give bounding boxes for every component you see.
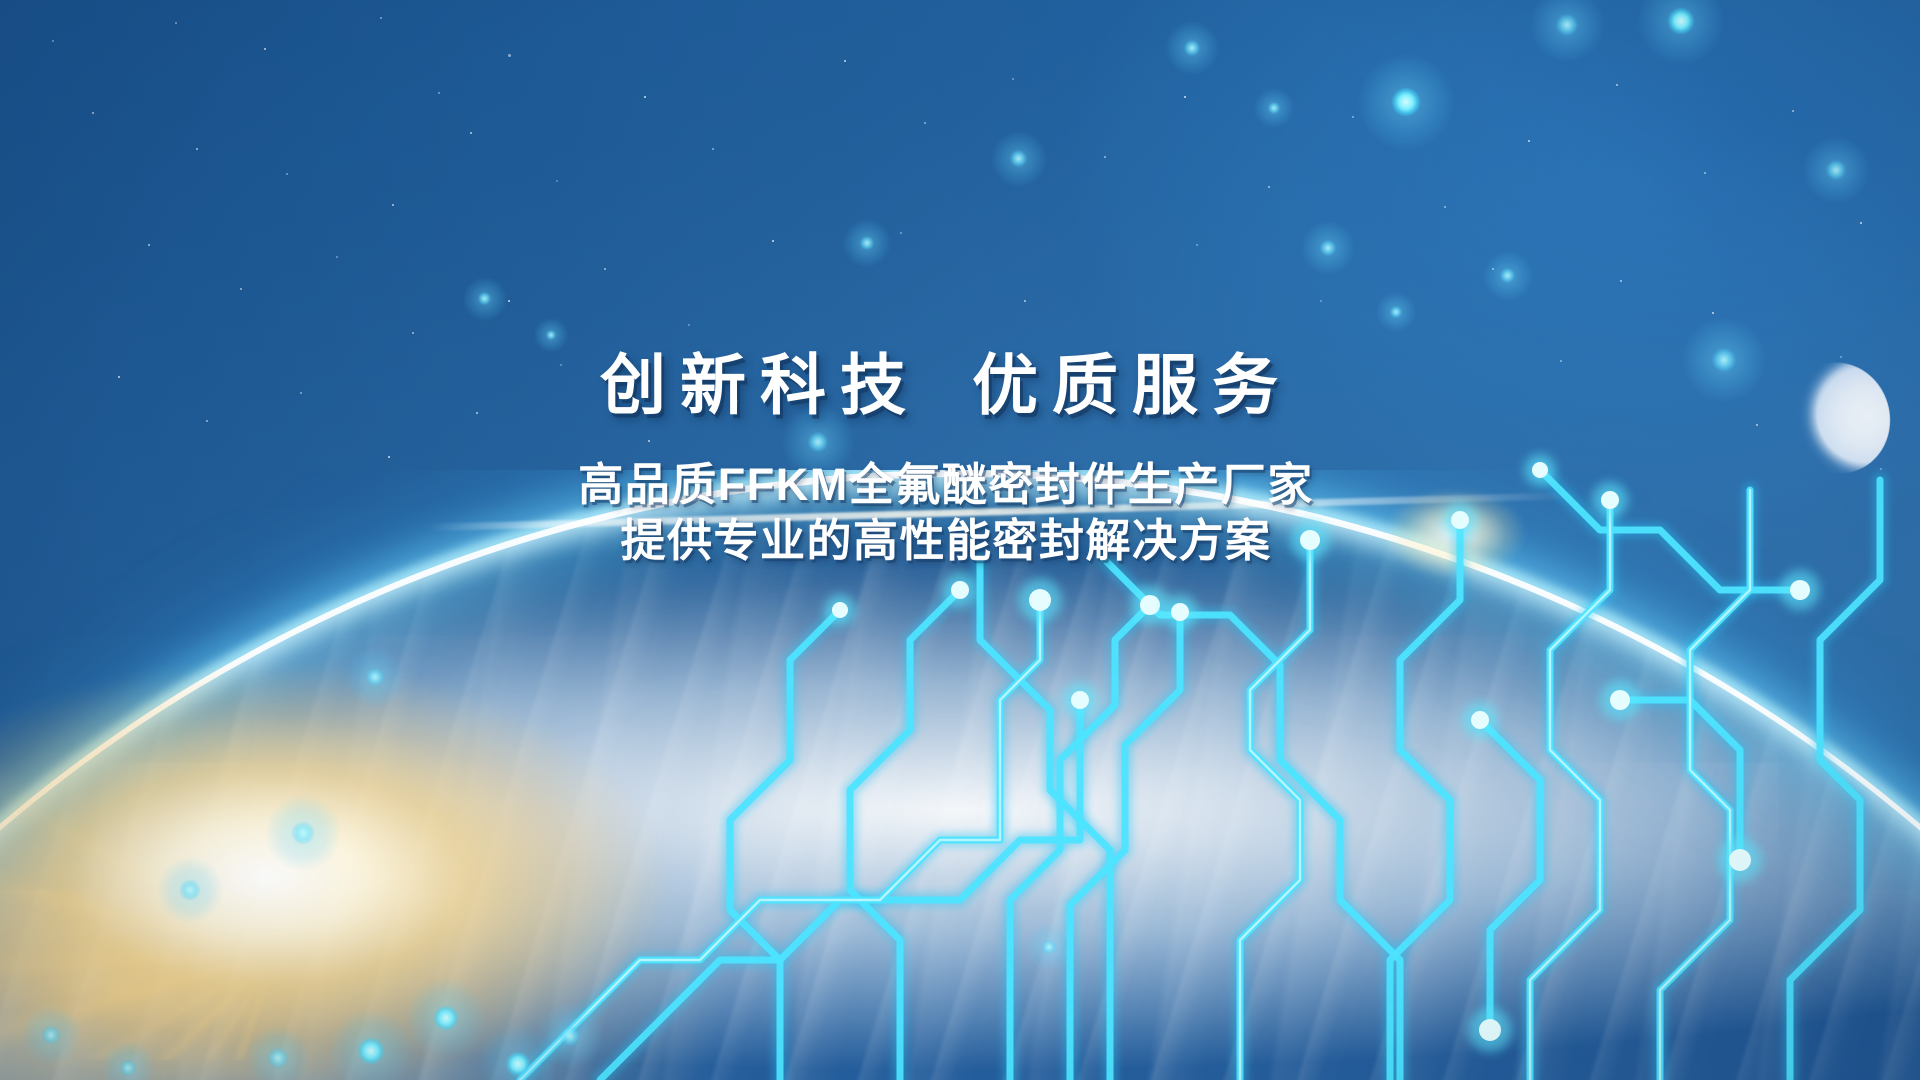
bokeh-orb: [860, 236, 874, 250]
bokeh-orb: [42, 1026, 60, 1044]
bokeh-orb: [180, 880, 200, 900]
bokeh-orb: [808, 432, 828, 452]
star-dot: [1560, 360, 1562, 362]
star-dot: [240, 288, 242, 290]
bokeh-orb: [1390, 306, 1402, 318]
hero-banner: 创新科技优质服务 高品质FFKM全氟醚密封件生产厂家 提供专业的高性能密封解决方…: [0, 0, 1920, 1080]
bokeh-orb: [560, 1026, 580, 1046]
bokeh-orb: [506, 1052, 530, 1076]
star-dot: [476, 412, 478, 414]
star-dot: [148, 244, 150, 246]
bokeh-orb: [1668, 8, 1694, 34]
star-dot: [118, 376, 120, 378]
star-dot: [736, 400, 738, 402]
star-dot: [1616, 84, 1618, 86]
star-dot: [1268, 186, 1270, 188]
star-dot: [206, 420, 208, 422]
bokeh-orb: [478, 292, 491, 305]
star-dot: [300, 392, 302, 394]
star-dot: [336, 256, 338, 258]
star-dot: [388, 456, 390, 458]
star-dot: [1792, 110, 1794, 112]
star-dot: [1104, 156, 1106, 158]
bokeh-orb: [1712, 348, 1736, 372]
star-dot: [648, 440, 650, 442]
star-dot: [1320, 300, 1322, 302]
star-dot: [1528, 140, 1530, 142]
star-dot: [1860, 222, 1862, 224]
bokeh-orb: [1320, 240, 1336, 256]
lens-flare-hotspot: [1360, 468, 1550, 598]
star-dot: [1704, 172, 1706, 174]
star-dot: [1712, 312, 1714, 314]
bokeh-orb: [1042, 940, 1056, 954]
bokeh-orb: [1010, 150, 1027, 167]
star-dot: [264, 48, 266, 50]
bokeh-orb: [1184, 40, 1200, 56]
bokeh-orb: [358, 1038, 384, 1064]
star-dot: [772, 240, 774, 242]
star-dot: [1620, 280, 1622, 282]
star-dot: [1196, 244, 1198, 246]
star-dot: [412, 332, 414, 334]
star-dot: [392, 204, 394, 206]
bokeh-orb: [434, 1006, 458, 1030]
star-dot: [844, 60, 846, 62]
star-dot: [1024, 300, 1026, 302]
star-dot: [560, 364, 562, 366]
bokeh-orb: [1268, 102, 1280, 114]
bokeh-orb: [1826, 160, 1846, 180]
star-dot: [1012, 78, 1014, 80]
star-dot: [286, 173, 288, 175]
star-dot: [712, 148, 714, 150]
star-dot: [196, 148, 198, 150]
star-dot: [556, 180, 558, 182]
star-dot: [1444, 206, 1446, 208]
bokeh-orb: [292, 822, 314, 844]
bokeh-orb: [1556, 14, 1578, 36]
bokeh-orb: [546, 330, 556, 340]
star-dot: [470, 132, 472, 134]
earth-atmosphere-glow: [0, 470, 1920, 1080]
star-dot: [1352, 116, 1354, 118]
bokeh-orb: [268, 1048, 288, 1068]
star-dot: [175, 22, 177, 24]
star-dot: [438, 92, 440, 94]
star-dot: [508, 54, 511, 57]
star-dot: [604, 268, 606, 270]
star-dot: [1184, 96, 1186, 98]
bokeh-orb: [366, 668, 384, 686]
bokeh-orb: [1500, 268, 1515, 283]
star-dot: [92, 112, 94, 114]
star-dot: [1756, 424, 1758, 426]
star-dot: [644, 96, 646, 98]
star-dot: [52, 40, 54, 42]
earth-globe: [0, 470, 1920, 1080]
star-dot: [924, 122, 926, 124]
star-dot: [900, 232, 902, 234]
bokeh-orb: [120, 1060, 136, 1076]
star-dot: [1840, 356, 1842, 358]
bokeh-orb: [1392, 88, 1420, 116]
star-dot: [508, 300, 510, 302]
star-dot: [688, 324, 690, 326]
star-dot: [380, 17, 382, 19]
